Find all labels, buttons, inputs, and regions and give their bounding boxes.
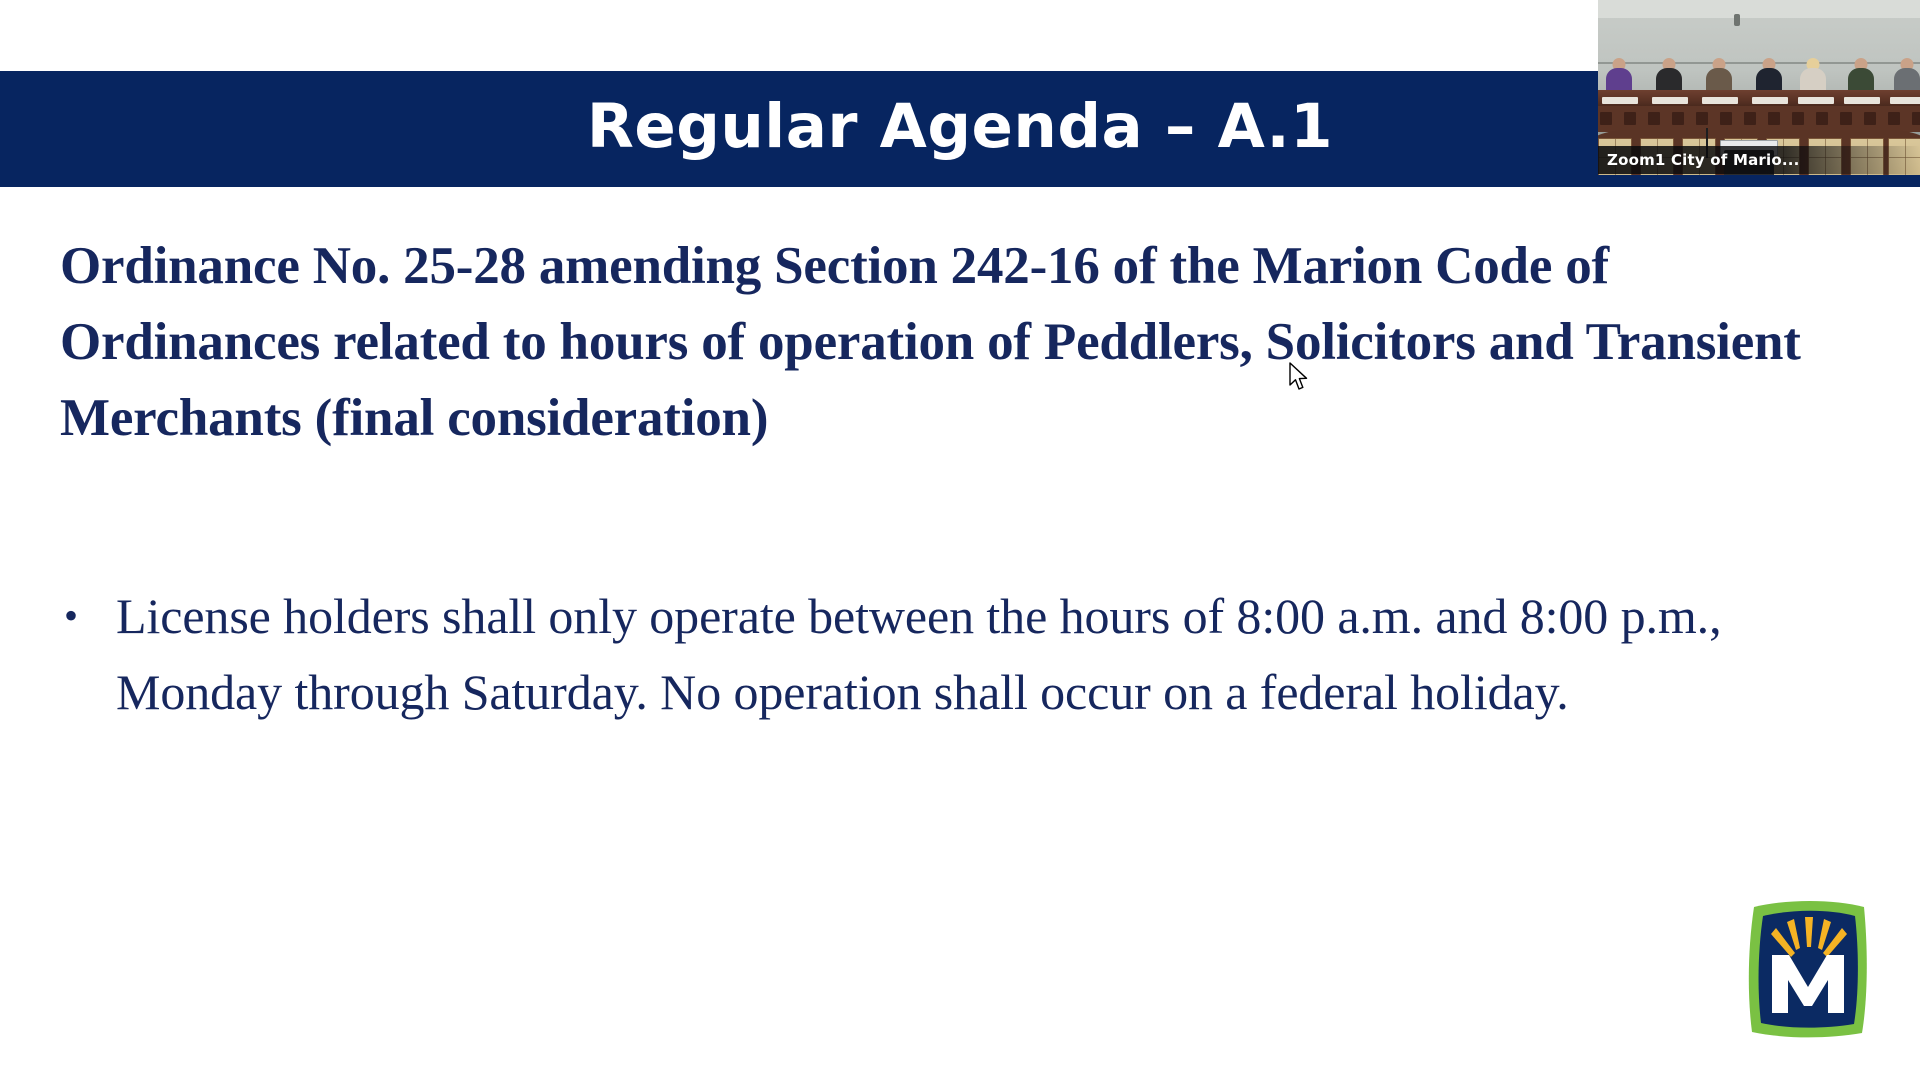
bullet-marker-icon: • (64, 578, 86, 654)
video-nameplate (1652, 97, 1688, 104)
slide-heading-text: Ordinance No. 25-28 amending Section 242… (60, 228, 1860, 456)
video-nameplate (1602, 97, 1638, 104)
presentation-slide: Regular Agenda – A.1 Ordinance No. 25-28… (0, 0, 1920, 1080)
slide-bullet-list: • License holders shall only operate bet… (56, 578, 1876, 730)
video-person (1606, 58, 1632, 92)
video-dais-band (1598, 106, 1920, 132)
video-person (1706, 58, 1732, 92)
video-nameplate (1844, 97, 1880, 104)
video-caption-bar: Zoom1 City of Mario... (1598, 146, 1920, 174)
video-caption-label: Zoom1 City of Mario... (1598, 151, 1800, 169)
video-ceiling-fixture (1734, 14, 1740, 26)
video-person (1756, 58, 1782, 92)
video-overlay-thumbnail[interactable]: Zoom1 City of Mario... (1598, 0, 1920, 184)
video-person (1656, 58, 1682, 92)
video-ceiling (1598, 0, 1920, 18)
video-nameplate (1702, 97, 1738, 104)
slide-heading-block: Ordinance No. 25-28 amending Section 242… (60, 228, 1860, 456)
video-person (1848, 58, 1874, 92)
video-nameplate (1798, 97, 1834, 104)
video-nameplate (1890, 97, 1920, 104)
video-bottom-strip (1598, 175, 1920, 184)
list-item: • License holders shall only operate bet… (56, 578, 1876, 730)
city-of-marion-logo (1742, 893, 1874, 1043)
video-nameplate (1752, 97, 1788, 104)
video-person (1800, 58, 1826, 92)
video-person (1894, 58, 1920, 92)
bullet-item-text: License holders shall only operate betwe… (116, 588, 1721, 720)
